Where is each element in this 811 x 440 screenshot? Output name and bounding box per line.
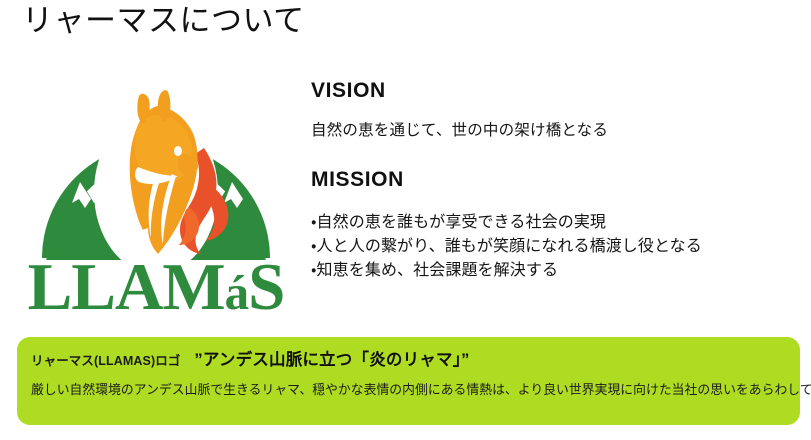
mission-heading: MISSION	[311, 167, 803, 192]
banner-label: リャーマス(LLAMAS)ロゴ	[31, 350, 180, 369]
mission-bullet-item: ・知恵を集め、社会課題を解決する	[311, 259, 803, 283]
mission-bullet-item: ・人と人の繋がり、誰もが笑顔になれる橋渡し役となる	[311, 235, 803, 259]
slide-root: リャーマスについて	[0, 0, 811, 440]
llamas-logo-mark-icon	[8, 62, 304, 267]
logo-explanation-banner: リャーマス(LLAMAS)ロゴ ”アンデス山脈に立つ「炎のリャマ」” 厳しい自然…	[17, 337, 800, 425]
logo-wordmark-accent: á	[225, 265, 249, 320]
logo-wordmark-part2: S	[248, 250, 284, 324]
mission-bullet-item: ・自然の恵を誰もが享受できる社会の実現	[311, 211, 803, 235]
logo-wordmark: LLAMáS	[8, 254, 304, 321]
page-title: リャーマスについて	[22, 2, 305, 41]
company-logo: LLAMáS	[8, 62, 304, 324]
banner-quote: ”アンデス山脈に立つ「炎のリャマ」”	[194, 346, 469, 370]
mission-bullet-list: ・自然の恵を誰もが享受できる社会の実現 ・人と人の繋がり、誰もが笑顔になれる橋渡…	[311, 211, 803, 284]
vision-mission-column: VISION 自然の恵を通じて、世の中の架け橋となる MISSION ・自然の恵…	[311, 78, 803, 284]
banner-description: 厳しい自然環境のアンデス山脈で生きるリャマ、穏やかな表情の内側にある情熱は、より…	[31, 379, 786, 398]
banner-headline-row: リャーマス(LLAMAS)ロゴ ”アンデス山脈に立つ「炎のリャマ」”	[31, 346, 786, 370]
vision-heading: VISION	[311, 78, 803, 103]
vision-body: 自然の恵を通じて、世の中の架け橋となる	[311, 120, 803, 142]
logo-wordmark-part1: LLAM	[28, 250, 225, 324]
